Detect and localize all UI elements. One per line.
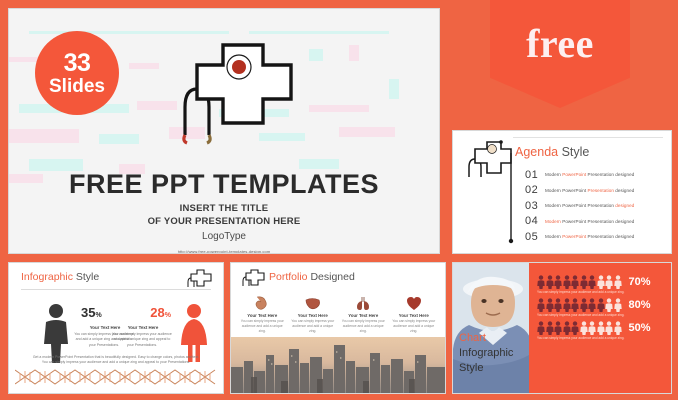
portfolio-title-accent: Portfolio xyxy=(269,271,308,283)
infographic-title-accent: Infographic xyxy=(21,271,73,283)
portfolio-slide[interactable]: Portfolio Designed Your Text Here You ca… xyxy=(230,262,446,394)
agenda-list: 01 Modern PowerPoint Presentation design… xyxy=(525,167,665,245)
stat-label-female: Your Text Here xyxy=(113,325,173,330)
infographic-title-plain: Style xyxy=(76,271,99,283)
agenda-item-text: Modern PowerPoint Presentation designed xyxy=(545,219,634,224)
chart-title-accent: Chart xyxy=(459,332,486,344)
slide-count-unit: Slides xyxy=(49,77,105,96)
portfolio-body: You can simply impress your audience and… xyxy=(290,319,337,334)
chart-body-1: You can simply impress your audience and… xyxy=(537,290,665,295)
chart-title: Chart Infographic Style xyxy=(459,331,513,376)
chart-title-line3: Style xyxy=(459,362,483,374)
portfolio-body: You can simply impress your audience and… xyxy=(239,319,286,334)
chart-value-3: 50% xyxy=(629,322,651,334)
table-row: 80% You can simply impress your audience… xyxy=(537,298,665,318)
stomach-icon xyxy=(239,295,286,311)
list-item[interactable]: Your Text Here You can simply impress yo… xyxy=(389,295,440,334)
stethoscope-cross-icon xyxy=(239,269,265,289)
heart-icon xyxy=(391,295,438,311)
portfolio-heading: Your Text Here xyxy=(391,313,438,318)
portfolio-heading: Your Text Here xyxy=(239,313,286,318)
stethoscope-medical-cross-icon xyxy=(159,37,329,157)
page-title: FREE PPT TEMPLATES xyxy=(9,169,439,200)
chart-body-2: You can simply impress your audience and… xyxy=(537,313,665,318)
list-item[interactable]: Your Text Here You can simply impress yo… xyxy=(288,295,339,334)
table-row: 50% You can simply impress your audience… xyxy=(537,321,665,341)
list-item[interactable]: 01 Modern PowerPoint Presentation design… xyxy=(525,167,665,183)
chart-body-3: You can simply impress your audience and… xyxy=(537,336,665,341)
source-url-link[interactable]: http://www.free-powerpoint-templates-des… xyxy=(9,249,439,254)
portfolio-body: You can simply impress your audience and… xyxy=(340,319,387,334)
agenda-item-text: Modern PowerPoint Presentation designed xyxy=(545,234,634,239)
agenda-item-number: 01 xyxy=(525,169,545,181)
agenda-top-rule xyxy=(513,137,663,138)
city-skyline-photo xyxy=(231,337,445,393)
stethoscope-cross-icon xyxy=(459,137,515,247)
infographic-slide[interactable]: Infographic Style 35% Your Text Here You… xyxy=(8,262,224,394)
free-ribbon-label: free xyxy=(526,20,594,67)
portfolio-heading: Your Text Here xyxy=(340,313,387,318)
agenda-item-number: 04 xyxy=(525,215,545,227)
chart-infographic-slide[interactable]: Chart Infographic Style 70% xyxy=(452,262,672,394)
dna-helix-pattern xyxy=(15,367,217,387)
stat-value-female: 28% xyxy=(137,305,171,320)
agenda-title: Agenda Style xyxy=(515,145,589,159)
logo-placeholder: LogoType xyxy=(9,231,439,242)
hero-subtitle-line1: INSERT THE TITLE xyxy=(180,203,269,214)
chart-title-line2: Infographic xyxy=(459,347,513,359)
chart-pictogram-rows: 70% You can simply impress your audience… xyxy=(537,275,665,343)
slide-count-badge: 33 Slides xyxy=(35,31,119,115)
chart-value-2: 80% xyxy=(629,299,651,311)
hero-slide[interactable]: 33 Slides FREE PPT TEMPLATES INSERT THE … xyxy=(8,8,440,254)
agenda-item-text: Modern PowerPoint Presentation designed xyxy=(545,172,634,177)
agenda-slide[interactable]: Agenda Style 01 Modern PowerPoint Presen… xyxy=(452,130,672,254)
agenda-item-number: 02 xyxy=(525,184,545,196)
agenda-title-accent: Agenda xyxy=(515,145,558,159)
list-item[interactable]: 05 Modern PowerPoint Presentation design… xyxy=(525,229,665,245)
liver-icon xyxy=(290,295,337,311)
stethoscope-cross-icon xyxy=(183,269,213,291)
list-item[interactable]: 02 Modern PowerPoint Presentation design… xyxy=(525,183,665,199)
hero-subtitle: INSERT THE TITLE OF YOUR PRESENTATION HE… xyxy=(9,203,439,229)
stat-value-male: 35% xyxy=(81,305,102,320)
list-item[interactable]: 04 Modern PowerPoint Presentation design… xyxy=(525,214,665,230)
agenda-item-number: 05 xyxy=(525,231,545,243)
portfolio-title-plain: Designed xyxy=(310,271,354,283)
portfolio-heading: Your Text Here xyxy=(290,313,337,318)
list-item[interactable]: Your Text Here You can simply impress yo… xyxy=(237,295,288,334)
agenda-item-text: Modern PowerPoint Presentation designed xyxy=(545,188,634,193)
list-item[interactable]: 03 Modern PowerPoint Presentation design… xyxy=(525,198,665,214)
list-item[interactable]: Your Text Here You can simply impress yo… xyxy=(338,295,389,334)
stat-body-female: You can simply impress your audience and… xyxy=(111,332,173,348)
infographic-title: Infographic Style xyxy=(21,271,99,283)
agenda-item-number: 03 xyxy=(525,200,545,212)
pictogram-row-1 xyxy=(537,275,622,289)
chart-value-1: 70% xyxy=(629,276,651,288)
agenda-item-text: Modern PowerPoint Presentation designed xyxy=(545,203,634,208)
portfolio-columns: Your Text Here You can simply impress yo… xyxy=(237,295,439,334)
hero-subtitle-line2: OF YOUR PRESENTATION HERE xyxy=(148,216,301,227)
portfolio-body: You can simply impress your audience and… xyxy=(391,319,438,334)
table-row: 70% You can simply impress your audience… xyxy=(537,275,665,295)
pictogram-row-3 xyxy=(537,321,622,335)
lungs-icon xyxy=(340,295,387,311)
slide-count-number: 33 xyxy=(64,51,91,76)
pictogram-row-2 xyxy=(537,298,622,312)
agenda-title-plain: Style xyxy=(562,145,590,159)
infographic-footer-text: Get a modern PowerPoint Presentation tha… xyxy=(31,355,201,366)
portfolio-title: Portfolio Designed xyxy=(269,271,355,283)
